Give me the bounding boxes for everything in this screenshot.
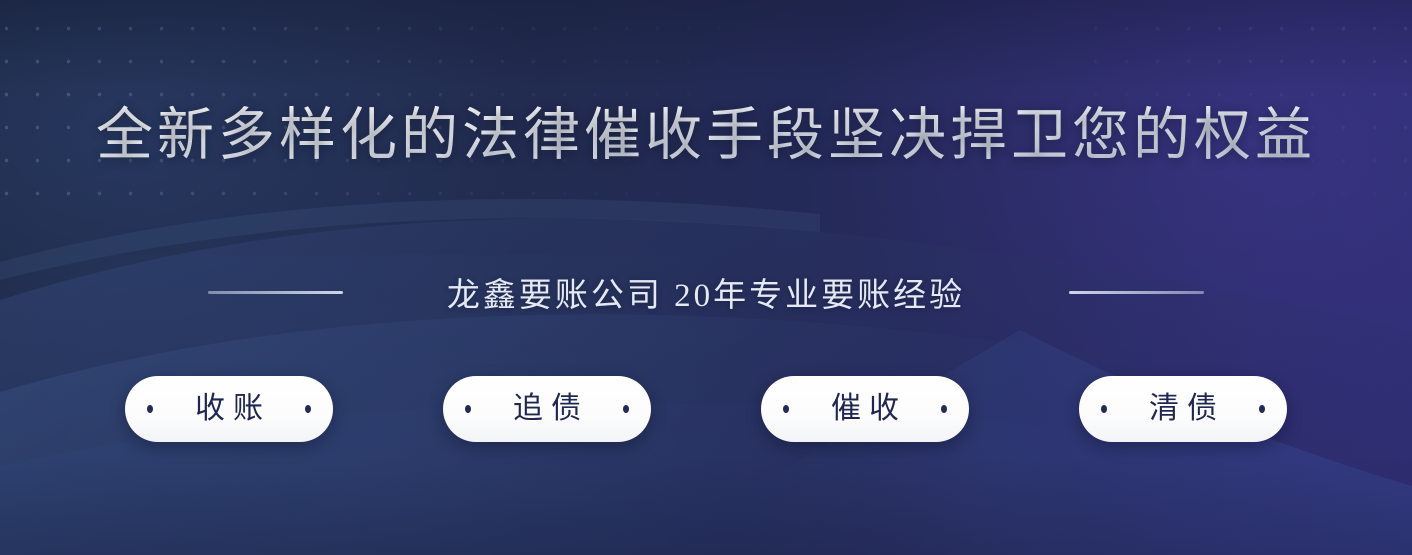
pill-label: 收账 <box>187 394 271 424</box>
bullet-dot-icon <box>465 405 471 413</box>
divider-line-right <box>1069 291 1204 294</box>
bullet-dot-icon <box>1259 405 1265 413</box>
hero-banner: 全新多样化的法律催收手段坚决捍卫您的权益 龙鑫要账公司 20年专业要账经验 收账… <box>0 0 1412 555</box>
subtitle-text: 龙鑫要账公司 20年专业要账经验 <box>447 268 965 316</box>
pill-button-zhuizhai[interactable]: 追债 <box>443 376 651 442</box>
page-title: 全新多样化的法律催收手段坚决捍卫您的权益 <box>0 104 1412 168</box>
service-pill-list: 收账 追债 催收 清债 <box>0 376 1412 442</box>
pill-button-shouzhang[interactable]: 收账 <box>125 376 333 442</box>
pill-button-cuishou[interactable]: 催收 <box>761 376 969 442</box>
bullet-dot-icon <box>623 405 629 413</box>
banner-content: 全新多样化的法律催收手段坚决捍卫您的权益 龙鑫要账公司 20年专业要账经验 收账… <box>0 0 1412 555</box>
bullet-dot-icon <box>305 405 311 413</box>
bullet-dot-icon <box>147 405 153 413</box>
bullet-dot-icon <box>941 405 947 413</box>
subtitle-row: 龙鑫要账公司 20年专业要账经验 <box>0 268 1412 316</box>
pill-label: 催收 <box>823 394 907 424</box>
pill-button-qingzhai[interactable]: 清债 <box>1079 376 1287 442</box>
bullet-dot-icon <box>783 405 789 413</box>
bullet-dot-icon <box>1101 405 1107 413</box>
pill-label: 追债 <box>505 394 589 424</box>
divider-line-left <box>208 291 343 294</box>
pill-label: 清债 <box>1141 394 1225 424</box>
